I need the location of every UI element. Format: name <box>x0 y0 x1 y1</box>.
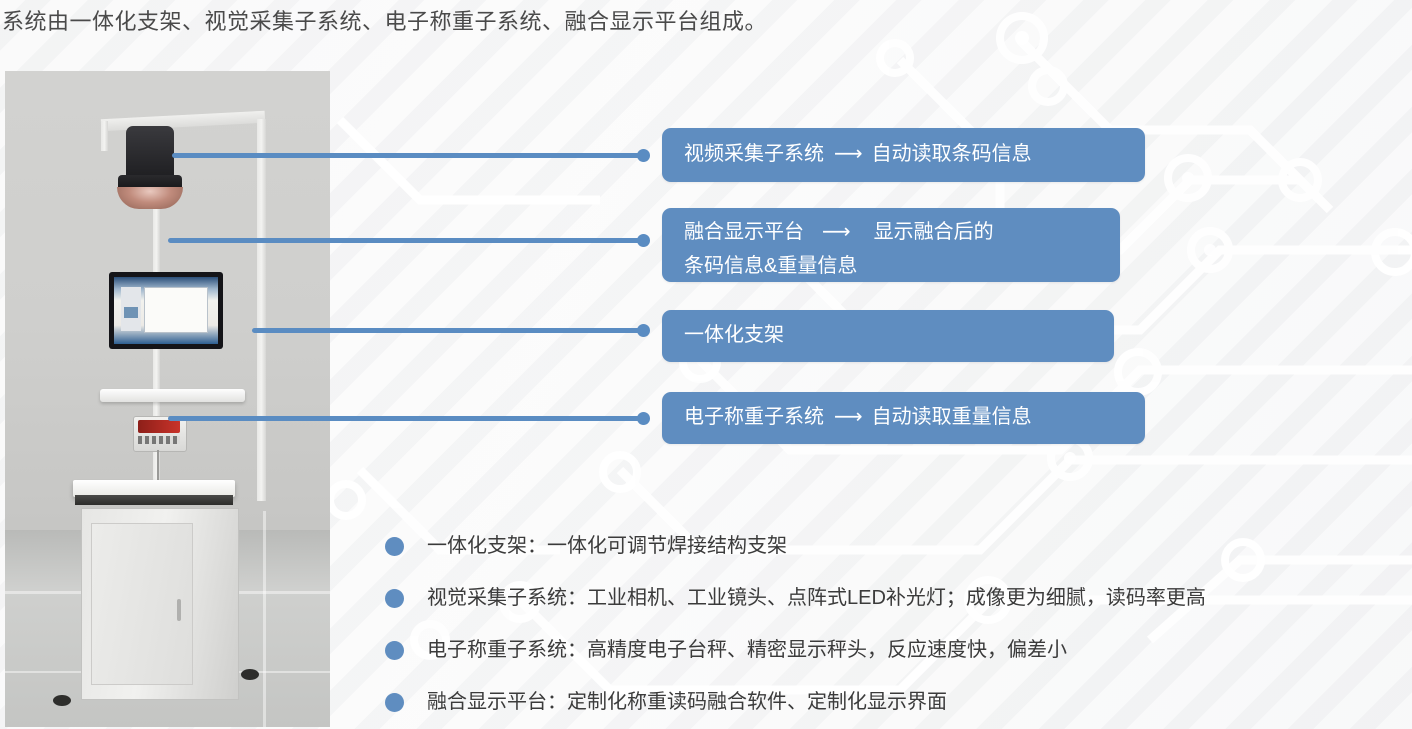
callout-video-capture[interactable]: 视频采集子系统⟶自动读取条码信息 <box>662 128 1145 182</box>
callout-lead-fusion-display: 融合显示平台 <box>684 215 804 249</box>
connector-dot-video-capture <box>637 149 650 162</box>
callout-lead-integrated-bracket: 一体化支架 <box>684 320 784 351</box>
leveling-foot <box>241 669 259 680</box>
connector-dot-integrated-bracket <box>637 324 650 337</box>
frame-right-post <box>257 119 266 501</box>
bullet-text-vision: 视觉采集子系统：工业相机、工业镜头、点阵式LED补光灯；成像更为细腻，读码率更高 <box>427 584 1206 612</box>
frame-left-stub <box>101 121 108 151</box>
display-monitor <box>109 272 223 349</box>
callout-tail-video-capture: 自动读取条码信息 <box>872 139 1032 170</box>
monitor-window <box>144 287 208 333</box>
arrow-icon: ⟶ <box>834 402 862 433</box>
bullet-dot-icon <box>385 589 404 608</box>
scale-led-display <box>138 420 180 433</box>
industrial-camera <box>126 126 174 181</box>
leveling-foot <box>53 695 71 706</box>
arrow-icon: ⟶ <box>834 139 862 170</box>
connector-dot-fusion-display <box>637 234 650 247</box>
floor-seam <box>263 511 266 727</box>
connector-dot-electronic-weighing <box>637 412 650 425</box>
monitor-screen <box>114 277 218 344</box>
callout-line2-fusion-display: 条码信息&重量信息 <box>684 249 1120 283</box>
keyboard-shelf <box>100 389 245 402</box>
list-item: 电子称重子系统：高精度电子台秤、精密显示秤头，反应速度快，偏差小 <box>385 624 1206 676</box>
callout-tail-electronic-weighing: 自动读取重量信息 <box>872 402 1032 433</box>
bullet-text-bracket: 一体化支架：一体化可调节焊接结构支架 <box>427 532 787 560</box>
callout-tail-fusion-display: 显示融合后的 <box>874 215 994 249</box>
callout-electronic-weighing[interactable]: 电子称重子系统⟶自动读取重量信息 <box>662 392 1145 444</box>
bullet-dot-icon <box>385 693 404 712</box>
scale-keypad <box>138 436 180 444</box>
bullet-text-weighing: 电子称重子系统：高精度电子台秤、精密显示秤头，反应速度快，偏差小 <box>427 636 1067 664</box>
weighing-platform-edge <box>75 495 233 505</box>
list-item: 融合显示平台：定制化称重读码融合软件、定制化显示界面 <box>385 676 1206 728</box>
bullet-dot-icon <box>385 641 404 660</box>
list-item: 一体化支架：一体化可调节焊接结构支架 <box>385 520 1206 572</box>
connector-line-integrated-bracket <box>252 328 644 333</box>
callout-lead-video-capture: 视频采集子系统 <box>684 139 824 170</box>
cabinet-handle <box>177 599 181 621</box>
arrow-icon: ⟶ <box>822 215 850 249</box>
connector-line-video-capture <box>172 153 644 158</box>
feature-bullet-list: 一体化支架：一体化可调节焊接结构支架 视觉采集子系统：工业相机、工业镜头、点阵式… <box>385 520 1206 728</box>
product-photo <box>5 71 330 727</box>
callout-integrated-bracket[interactable]: 一体化支架 <box>662 310 1114 362</box>
list-item: 视觉采集子系统：工业相机、工业镜头、点阵式LED补光灯；成像更为细腻，读码率更高 <box>385 572 1206 624</box>
bullet-dot-icon <box>385 537 404 556</box>
page-title: 系统由一体化支架、视觉采集子系统、电子称重子系统、融合显示平台组成。 <box>2 6 767 38</box>
callout-lead-electronic-weighing: 电子称重子系统 <box>684 402 824 433</box>
callout-fusion-display[interactable]: 融合显示平台⟶显示融合后的 条码信息&重量信息 <box>662 208 1120 282</box>
slide-canvas: 系统由一体化支架、视觉采集子系统、电子称重子系统、融合显示平台组成。 <box>0 0 1412 729</box>
connector-line-fusion-display <box>168 238 644 243</box>
connector-line-electronic-weighing <box>168 416 644 421</box>
monitor-thumbnail <box>124 307 138 318</box>
bullet-text-fusion: 融合显示平台：定制化称重读码融合软件、定制化显示界面 <box>427 688 947 716</box>
